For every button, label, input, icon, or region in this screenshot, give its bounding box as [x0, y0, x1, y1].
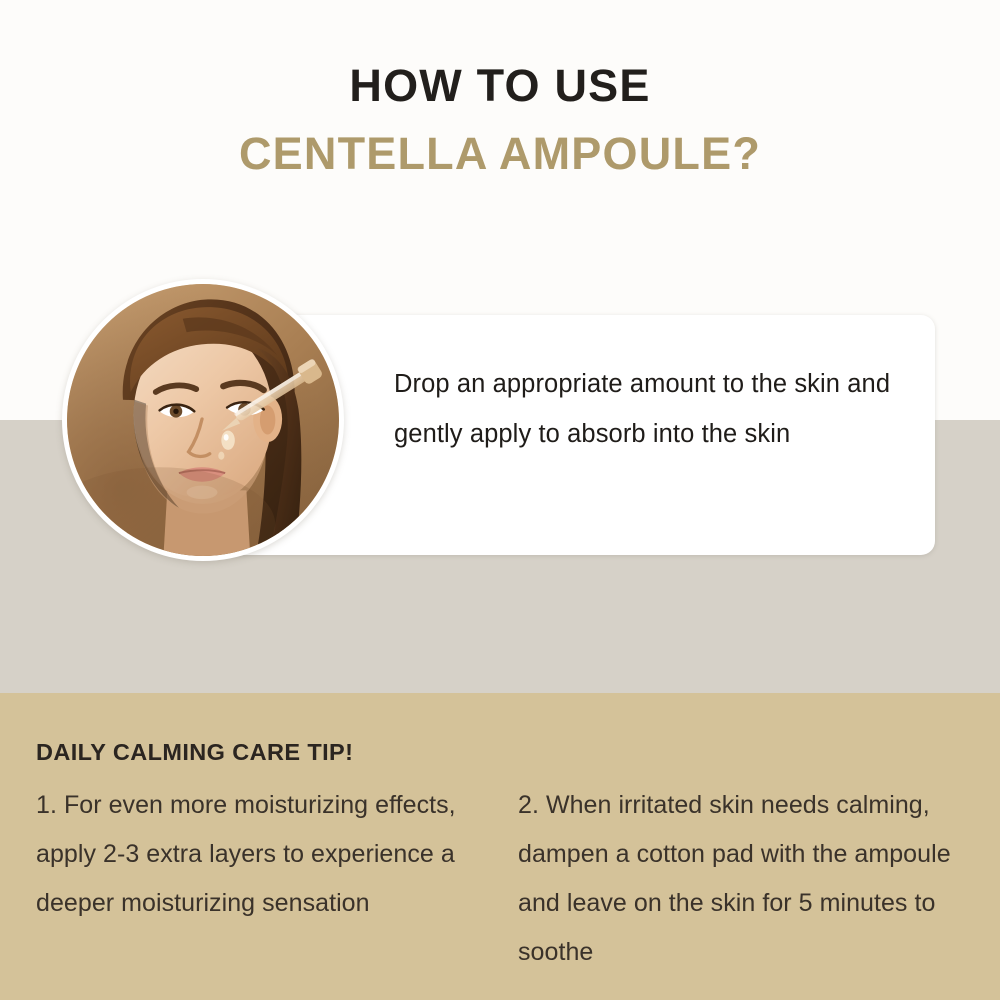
tips-section: DAILY CALMING CARE TIP! 1. For even more…	[0, 693, 1000, 1000]
tip-item-2: 2. When irritated skin needs calming, da…	[518, 781, 978, 977]
page-title-line1: HOW TO USE	[0, 62, 1000, 109]
tip-item-1: 1. For even more moisturizing effects, a…	[36, 781, 496, 928]
tips-heading: DAILY CALMING CARE TIP!	[36, 739, 353, 766]
page-header: HOW TO USE CENTELLA AMPOULE?	[0, 62, 1000, 178]
model-photo	[67, 284, 339, 556]
infographic-page: HOW TO USE CENTELLA AMPOULE? Drop an app…	[0, 0, 1000, 1000]
page-title-line2: CENTELLA AMPOULE?	[0, 130, 1000, 177]
model-photo-circle	[62, 279, 344, 561]
instruction-card-text: Drop an appropriate amount to the skin a…	[394, 359, 894, 459]
portrait-photo-icon	[67, 284, 339, 556]
